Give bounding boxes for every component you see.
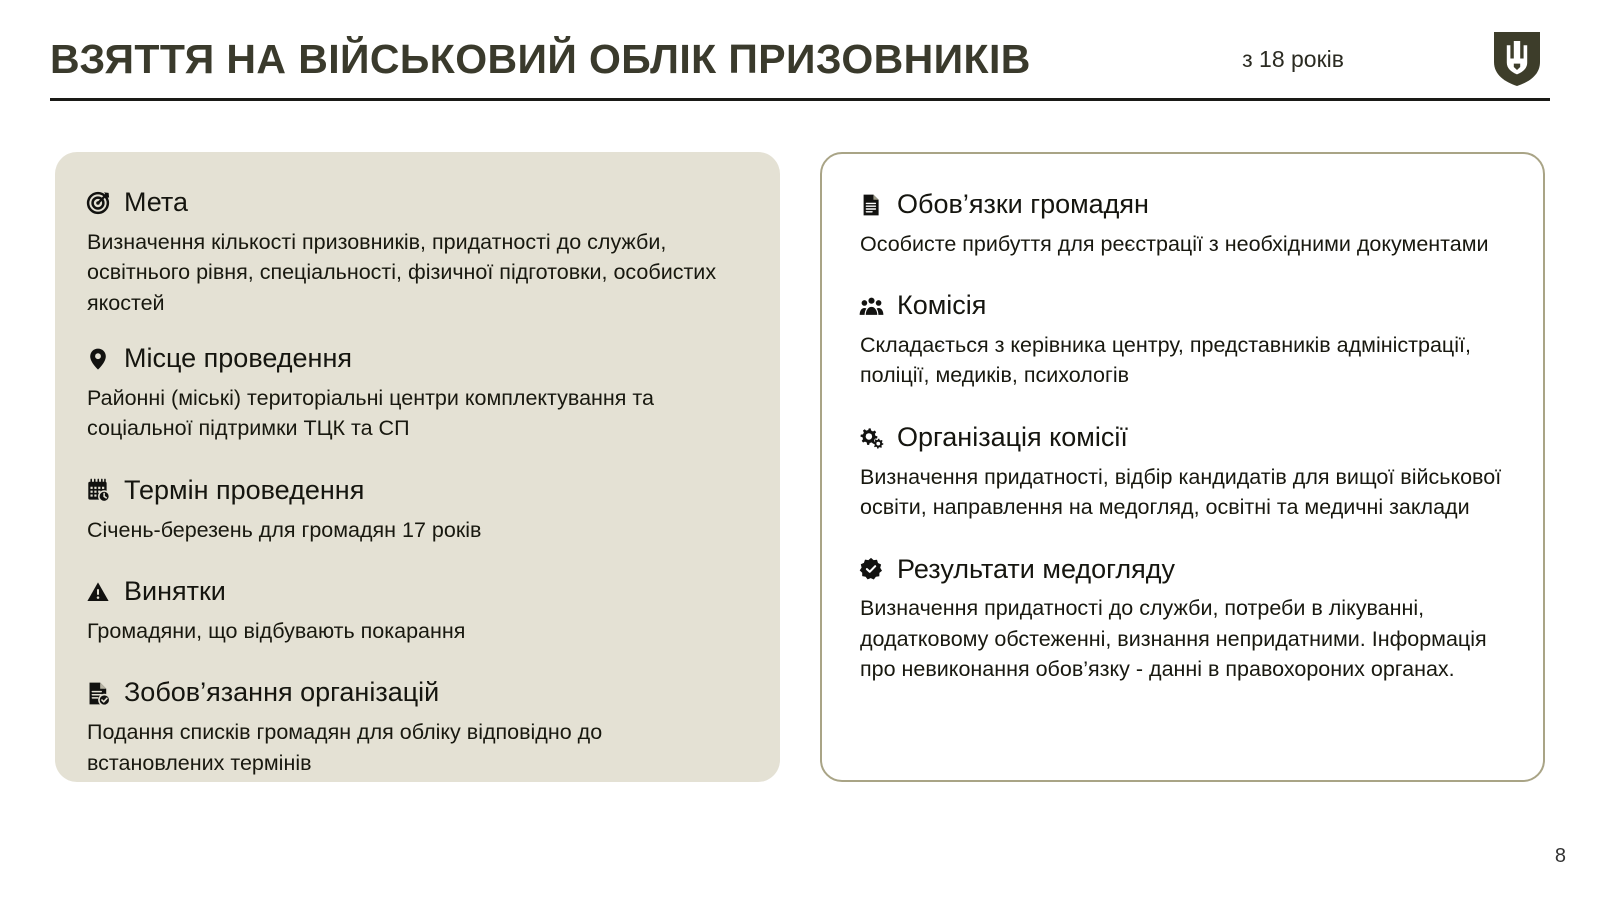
slide-header: ВЗЯТТЯ НА ВІЙСЬКОВИЙ ОБЛІК ПРИЗОВНИКІВ з… [50,28,1550,102]
page-number: 8 [1555,845,1566,868]
header-row: ВЗЯТТЯ НА ВІЙСЬКОВИЙ ОБЛІК ПРИЗОВНИКІВ з… [50,28,1550,90]
section-title: Мета [124,188,188,218]
document-icon [858,192,884,218]
section-title: Винятки [124,577,226,607]
section-title: Обов’язки громадян [897,190,1149,220]
section-body: Визначення придатності, відбір кандидаті… [858,462,1507,523]
header-divider [50,98,1550,101]
section-exceptions: Винятки Громадяни, що відбувають покаран… [85,577,740,646]
document-check-icon [85,680,111,706]
section-body: Районні (міські) територіальні центри ко… [85,383,740,444]
section-header: Комісія [858,291,1507,321]
section-title: Організація комісії [897,423,1128,453]
section-body: Подання списків громадян для обліку відп… [85,717,740,778]
section-citizen-duties: Обов’язки громадян Особисте прибуття для… [858,190,1507,259]
section-body: Складається з керівника центру, представ… [858,330,1507,391]
section-header: Мета [85,188,740,218]
section-title: Зобов’язання організацій [124,678,439,708]
section-title: Термін проведення [124,476,364,506]
section-title: Результати медогляду [897,555,1175,585]
section-body: Громадяни, що відбувають покарання [85,616,740,647]
right-info-card: Обов’язки громадян Особисте прибуття для… [820,152,1545,782]
section-header: Зобов’язання організацій [85,678,740,708]
section-term: Термін проведення Січень-березень для гр… [85,476,740,545]
section-header: Результати медогляду [858,555,1507,585]
map-pin-icon [85,346,111,372]
section-body: Визначення придатності до служби, потреб… [858,593,1507,685]
ukraine-trident-shield-icon [1494,32,1540,86]
section-body: Січень-березень для громадян 17 років [85,515,740,546]
verified-badge-icon [858,556,884,582]
section-body: Визначення кількості призовників, придат… [85,227,740,319]
calendar-clock-icon [85,478,111,504]
section-commission: Комісія Складається з керівника центру, … [858,291,1507,391]
section-header: Організація комісії [858,423,1507,453]
section-place: Місце проведення Районні (міські) терито… [85,344,740,444]
section-header: Обов’язки громадян [858,190,1507,220]
section-header: Термін проведення [85,476,740,506]
people-group-icon [858,293,884,319]
section-title: Комісія [897,291,986,321]
page-title: ВЗЯТТЯ НА ВІЙСЬКОВИЙ ОБЛІК ПРИЗОВНИКІВ [50,39,1031,80]
section-header: Місце проведення [85,344,740,374]
section-meta: Мета Визначення кількості призовників, п… [85,188,740,318]
left-info-card: Мета Визначення кількості призовників, п… [55,152,780,782]
section-body: Особисте прибуття для реєстрації з необх… [858,229,1507,260]
warning-triangle-icon [85,579,111,605]
section-org-duties: Зобов’язання організацій Подання списків… [85,678,740,778]
target-icon [85,190,111,216]
section-header: Винятки [85,577,740,607]
section-title: Місце проведення [124,344,352,374]
section-commission-org: Організація комісії Визначення придатнос… [858,423,1507,523]
content-board: Мета Визначення кількості призовників, п… [55,152,1545,782]
section-medical-results: Результати медогляду Визначення придатно… [858,555,1507,685]
page-subtitle: з 18 років [1242,48,1344,71]
gears-icon [858,425,884,451]
